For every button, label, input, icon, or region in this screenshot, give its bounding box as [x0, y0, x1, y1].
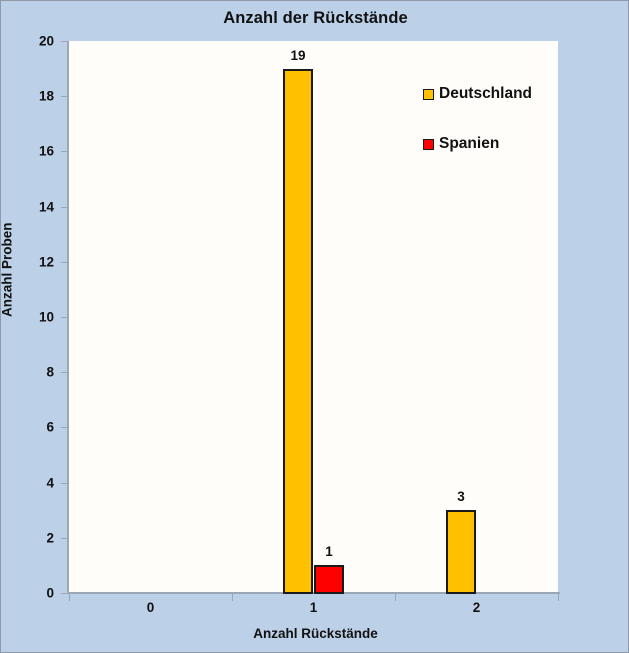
y-axis-tick	[61, 483, 68, 484]
y-axis-tick-label: 0	[46, 586, 54, 600]
y-axis-tick-label: 8	[46, 365, 54, 379]
y-axis-tick-label: 20	[39, 34, 54, 48]
x-axis-tick-label: 2	[473, 600, 481, 615]
chart-container: Anzahl der Rückstände 02468101214161820 …	[0, 0, 629, 653]
legend-item-spanien[interactable]: Spanien	[423, 133, 532, 155]
y-axis-tick	[61, 96, 68, 97]
y-axis-tick-label: 2	[46, 531, 54, 545]
x-axis-tick-label: 1	[310, 600, 318, 615]
y-axis-tick-label: 4	[46, 476, 54, 490]
chart-legend: DeutschlandSpanien	[423, 83, 532, 183]
bar-deutschland-2	[446, 510, 477, 594]
legend-swatch-icon	[423, 89, 434, 100]
y-axis-tick	[61, 151, 68, 152]
chart-title: Anzahl der Rückstände	[1, 9, 629, 28]
y-axis-tick	[61, 317, 68, 318]
y-axis-tick-label: 16	[39, 145, 54, 159]
y-axis-tick	[61, 538, 68, 539]
y-axis-title: Anzahl Proben	[0, 222, 15, 317]
bar-deutschland-1	[283, 69, 314, 594]
y-axis-tick-label: 18	[39, 89, 54, 103]
y-axis-tick	[61, 41, 68, 42]
bar-value-label: 3	[457, 489, 465, 504]
x-axis-tick	[395, 593, 396, 601]
y-axis-tick	[61, 593, 68, 594]
y-axis-tick-label: 12	[39, 255, 54, 269]
x-axis-tick	[558, 593, 559, 601]
y-axis-tick	[61, 207, 68, 208]
x-axis-title: Anzahl Rückstände	[1, 626, 629, 641]
legend-item-deutschland[interactable]: Deutschland	[423, 83, 532, 105]
legend-swatch-icon	[423, 139, 434, 150]
y-axis-tick-label: 6	[46, 421, 54, 435]
y-axis-tick	[61, 372, 68, 373]
y-axis-tick	[61, 427, 68, 428]
bar-value-label: 19	[290, 48, 305, 63]
x-axis-tick	[232, 593, 233, 601]
y-axis-tick-label: 14	[39, 200, 54, 214]
y-axis-tick-label: 10	[39, 310, 54, 324]
y-axis-tick	[61, 262, 68, 263]
legend-item-label: Deutschland	[439, 85, 532, 103]
legend-item-label: Spanien	[439, 135, 499, 153]
x-axis-tick	[69, 593, 70, 601]
bar-value-label: 1	[325, 544, 333, 559]
x-axis-tick-label: 0	[147, 600, 155, 615]
bar-spanien-1	[314, 565, 345, 594]
